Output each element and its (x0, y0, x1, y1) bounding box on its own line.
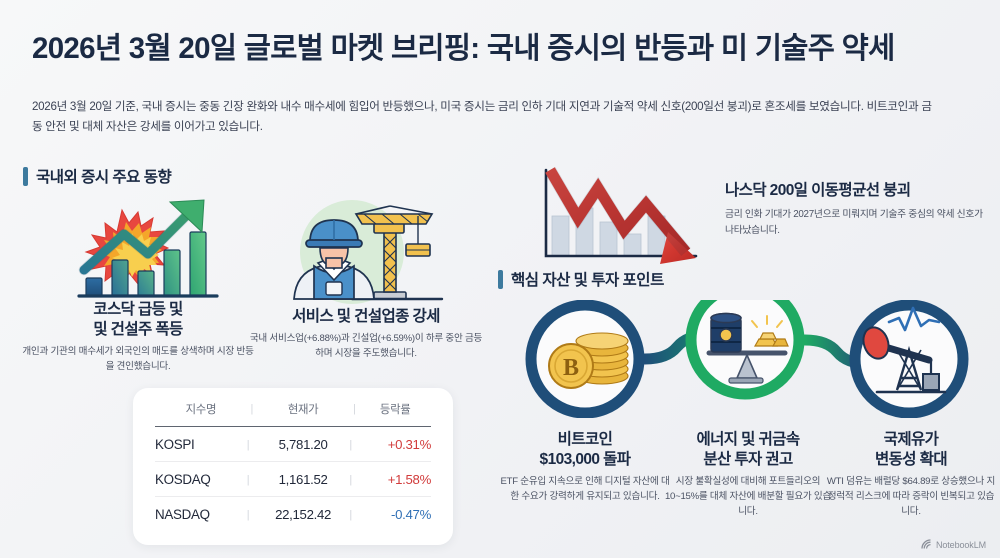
infographic-canvas: 2026년 3월 20일 글로벌 마켓 브리핑: 국내 증시의 반등과 미 기술… (0, 0, 1000, 558)
table-header-row: 지수명 | 현재가 | 등락률 (155, 401, 431, 427)
trend-card-title: 코스닥 급등 및 및 건설주 폭등 (20, 300, 256, 340)
cell-index-name: NASDAQ (155, 497, 247, 532)
page-subtitle: 2026년 3월 20일 기준, 국내 증시는 중동 긴장 완화와 내수 매수세… (32, 97, 932, 138)
cell-divider: | (349, 462, 359, 497)
asset-card-title-line1: 국제유가 (884, 431, 939, 448)
nasdaq-highlight: 나스닥 200일 이동평균선 붕괴 금리 인화 기대가 2027년으로 미뤄지며… (725, 178, 990, 238)
asset-chain-diagram: B (505, 300, 995, 423)
accent-bar (498, 270, 503, 289)
asset-card-title: 국제유가 변동성 확대 (826, 430, 996, 470)
cell-divider: | (349, 427, 359, 462)
table-row: NASDAQ | 22,152.42 | -0.47% (155, 497, 431, 532)
section-heading-domestic-trends: 국내외 증시 주요 동향 (23, 165, 171, 187)
section-title-text: 국내외 증시 주요 동향 (36, 165, 171, 187)
column-header-change: 등락률 (359, 401, 431, 427)
asset-card-title-line1: 에너지 및 귀금속 (696, 431, 799, 448)
asset-card-bitcoin: 비트코인 $103,000 돌파 ETF 순유입 지속으로 인해 디지털 자산에… (500, 430, 670, 505)
asset-card-title-line2: 변동성 확대 (875, 451, 947, 468)
asset-card-title: 에너지 및 귀금속 분산 투자 권고 (663, 430, 833, 470)
asset-card-title-line1: 비트코인 (558, 431, 613, 448)
asset-card-title: 비트코인 $103,000 돌파 (500, 430, 670, 470)
cell-price: 22,152.42 (257, 497, 350, 532)
notebooklm-logo-icon (921, 539, 932, 550)
rising-bar-chart-explosion-icon (52, 192, 242, 309)
trend-card-kosdaq: 코스닥 급등 및 및 건설주 폭등 개인과 기관의 매수세가 외국인의 매도를 … (20, 300, 256, 375)
table-row: KOSDAQ | 1,161.52 | +1.58% (155, 462, 431, 497)
trend-card-title: 서비스 및 건설업종 강세 (248, 307, 484, 327)
cell-divider: | (247, 462, 257, 497)
cell-change: -0.47% (359, 497, 431, 532)
cell-index-name: KOSPI (155, 427, 247, 462)
declining-chart-arrow-icon (500, 160, 715, 277)
cell-index-name: KOSDAQ (155, 462, 247, 497)
cell-change: +1.58% (359, 462, 431, 497)
watermark-label: NotebookLM (936, 540, 986, 550)
index-table-card: 지수명 | 현재가 | 등락률 KOSPI | 5,781.20 | +0.31… (133, 388, 453, 545)
asset-card-title-line2: 분산 투자 권고 (703, 451, 792, 468)
section-heading-key-assets: 핵심 자산 및 투자 포인트 (498, 268, 664, 290)
trend-card-construction: 서비스 및 건설업종 강세 국내 서비스업(+6.88%)과 긴설업(+6.59… (248, 307, 484, 362)
index-table: 지수명 | 현재가 | 등락률 KOSPI | 5,781.20 | +0.31… (155, 401, 431, 531)
accent-bar (23, 167, 28, 186)
nasdaq-highlight-body: 금리 인화 기대가 2027년으로 미뤄지며 기술주 중심의 약세 신호가 나타… (725, 207, 990, 238)
asset-card-title-line2: $103,000 돌파 (540, 451, 631, 468)
column-header-price: 현재가 (257, 401, 350, 427)
asset-card-crude-oil: 국제유가 변동성 확대 WTI 덤유는 배럴당 $64.89로 상승했으나 지정… (826, 430, 996, 520)
svg-text:B: B (563, 355, 579, 381)
asset-card-body: ETF 순유입 지속으로 인해 디지털 자산에 대한 수요가 강력하게 유지되고… (500, 475, 670, 505)
asset-card-energy-metals: 에너지 및 귀금속 분산 투자 권고 시장 불확실성에 대비해 포트들리오의 1… (663, 430, 833, 520)
cell-divider: | (349, 497, 359, 532)
column-divider: | (247, 401, 257, 427)
nasdaq-highlight-title: 나스닥 200일 이동평균선 붕괴 (725, 178, 990, 200)
page-title: 2026년 3월 20일 글로벌 마켓 브리핑: 국내 증시의 반등과 미 기술… (32, 32, 972, 67)
trend-card-body: 개인과 기관의 매수세가 외국인의 매도를 상색하며 시장 반등을 견인했습니다… (20, 345, 256, 375)
cell-price: 1,161.52 (257, 462, 350, 497)
cell-divider: | (247, 497, 257, 532)
cell-change: +0.31% (359, 427, 431, 462)
asset-card-body: WTI 덤유는 배럴당 $64.89로 상승했으나 지정럭적 리스크에 따라 증… (826, 475, 996, 520)
trend-card-title-line2: 및 건설주 폭등 (93, 321, 182, 338)
asset-card-body: 시장 불확실성에 대비해 포트들리오의 10~15%를 대체 자산에 배분할 필… (663, 475, 833, 520)
cell-price: 5,781.20 (257, 427, 350, 462)
construction-worker-crane-icon (256, 192, 446, 309)
cell-divider: | (247, 427, 257, 462)
trend-card-title-line1: 코스닥 급등 및 (93, 301, 182, 318)
trend-card-body: 국내 서비스업(+6.88%)과 긴설업(+6.59%)이 하루 중안 금등하며… (248, 332, 484, 362)
table-row: KOSPI | 5,781.20 | +0.31% (155, 427, 431, 462)
column-divider: | (349, 401, 359, 427)
column-header-index-name: 지수명 (155, 401, 247, 427)
section-title-text: 핵심 자산 및 투자 포인트 (511, 268, 664, 290)
notebooklm-watermark: NotebookLM (921, 539, 986, 550)
